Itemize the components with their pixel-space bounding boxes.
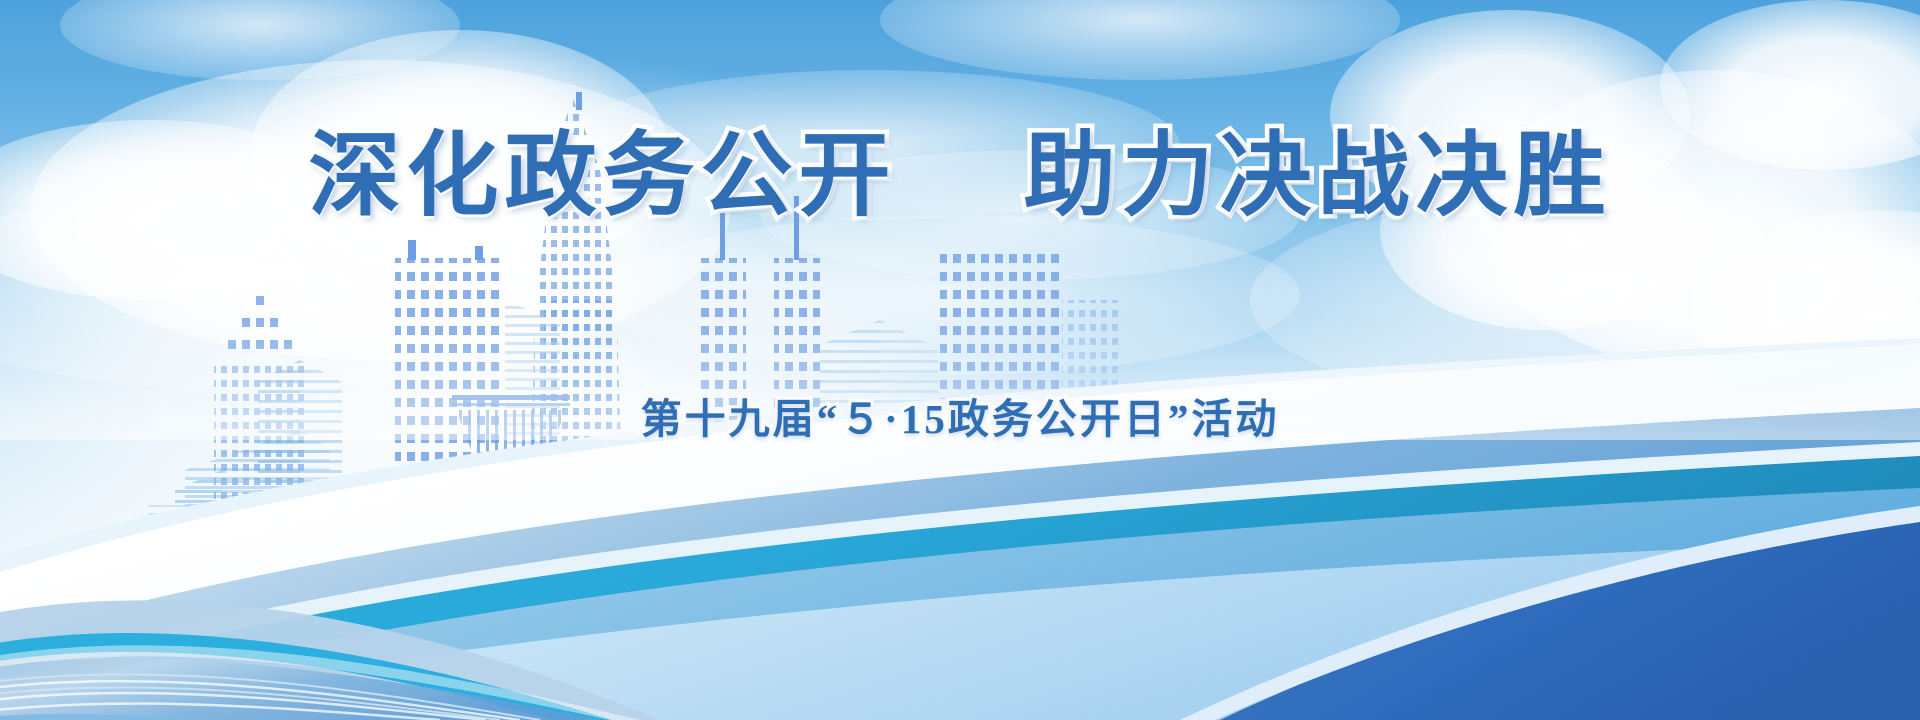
blue-ribbon-waves [0, 320, 1920, 720]
banner-root: 深化政务公开 助力决战决胜 第十九届“５·15政务公开日”活动 [0, 0, 1920, 720]
